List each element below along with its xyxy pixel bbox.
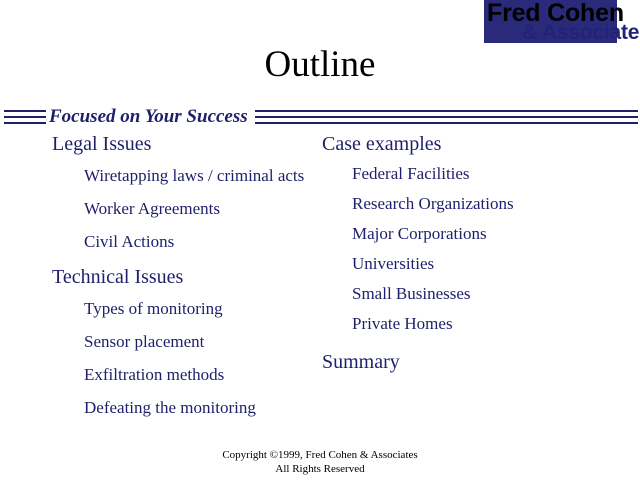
outline-column-right: Case examples Federal Facilities Researc… [310, 130, 640, 430]
outline-heading-case-examples: Case examples [322, 132, 640, 156]
outline-item-major-corporations: Major Corporations [352, 224, 640, 243]
outline-item-small-businesses: Small Businesses [352, 284, 640, 303]
logo-associates-text: & Associates [522, 22, 640, 43]
outline-item-defeating-the-monitoring: Defeating the monitoring [84, 398, 310, 417]
outline-item-sensor-placement: Sensor placement [84, 332, 310, 351]
page-title: Outline [0, 44, 640, 86]
outline-item-worker-agreements: Worker Agreements [84, 199, 310, 218]
outline-item-universities: Universities [352, 254, 640, 273]
outline-item-wiretapping-laws: Wiretapping laws / criminal acts [84, 166, 310, 185]
footer: Copyright ©1999, Fred Cohen & Associates… [0, 448, 640, 476]
outline-heading-technical-issues: Technical Issues [52, 265, 310, 289]
banner-rule-right-3 [255, 122, 638, 124]
banner-rule-left-2 [4, 116, 46, 118]
outline-item-exfiltration-methods: Exfiltration methods [84, 365, 310, 384]
footer-copyright-line: Copyright ©1999, Fred Cohen & Associates [0, 448, 640, 462]
outline-item-types-of-monitoring: Types of monitoring [84, 299, 310, 318]
outline-heading-summary: Summary [322, 350, 640, 374]
outline-item-private-homes: Private Homes [352, 314, 640, 333]
banner-rule-right-2 [255, 116, 638, 118]
banner-tagline: Focused on Your Success [46, 104, 251, 130]
outline-heading-legal-issues: Legal Issues [52, 132, 310, 156]
banner-rule-right-1 [255, 110, 638, 112]
banner-rule-left-1 [4, 110, 46, 112]
banner: Focused on Your Success [0, 104, 640, 130]
outline-item-civil-actions: Civil Actions [84, 232, 310, 251]
footer-rights-line: All Rights Reserved [0, 462, 640, 476]
banner-rule-left-3 [4, 122, 46, 124]
outline-item-federal-facilities: Federal Facilities [352, 164, 640, 183]
outline-item-research-organizations: Research Organizations [352, 194, 640, 213]
outline-column-left: Legal Issues Wiretapping laws / criminal… [0, 130, 310, 430]
